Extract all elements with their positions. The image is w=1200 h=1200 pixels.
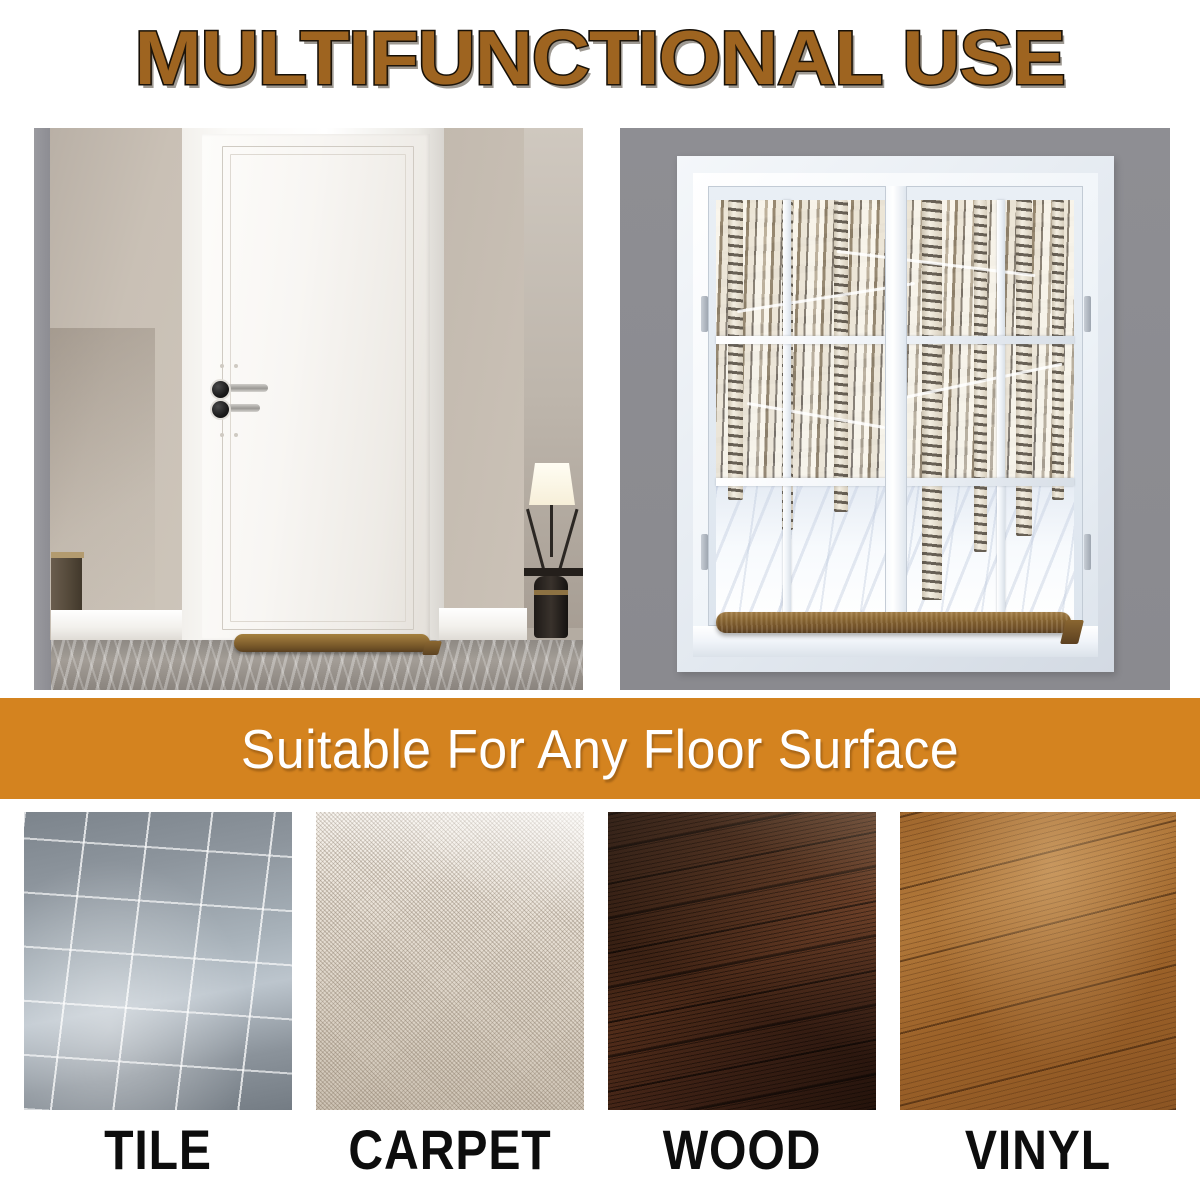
vinyl-texture (900, 812, 1176, 1110)
carpet-floor-image (316, 812, 584, 1110)
birch-trunk (834, 200, 848, 512)
window-hinge (1084, 296, 1091, 332)
floor-label-tile: TILE (43, 1118, 273, 1180)
carpet-texture (316, 812, 584, 1110)
floor-label-carpet: CARPET (335, 1118, 565, 1180)
decor-vase (534, 576, 568, 638)
floor-label-vinyl: VINYL (919, 1118, 1156, 1180)
window-scene-photo (620, 128, 1170, 690)
banner-text: Suitable For Any Floor Surface (241, 717, 959, 781)
console-cabinet-top (51, 552, 84, 558)
window-hinge (701, 534, 708, 570)
photo-left-edge-strip (34, 128, 51, 690)
window-mullion-vertical (783, 200, 791, 624)
window-meeting-rail (885, 186, 907, 626)
door-hardware-screw (220, 433, 224, 437)
baseboard-right (439, 608, 527, 642)
door-hardware-screw (234, 364, 238, 368)
door-hardware-screw (220, 364, 224, 368)
page-title: MULTIFUNCTIONAL USE (135, 21, 1065, 97)
adjacent-room (524, 128, 583, 628)
wood-texture (608, 812, 876, 1110)
floor-lamp-shade (529, 463, 575, 505)
wood-floor-image (608, 812, 876, 1110)
door-hardware-screw (234, 433, 238, 437)
side-table (523, 568, 583, 576)
floor-lamp-stem (550, 505, 553, 557)
decor-vase-ring (534, 590, 568, 595)
draft-stopper-window (716, 612, 1071, 633)
title-bar: MULTIFUNCTIONAL USE (0, 0, 1200, 118)
vinyl-floor-image (900, 812, 1176, 1110)
hallway-right-wall (439, 128, 524, 640)
baseboard-left (51, 610, 182, 642)
tile-texture (24, 812, 292, 1110)
door-handle-rose (212, 381, 229, 398)
birch-trunk (728, 200, 743, 500)
door-scene-photo (34, 128, 583, 690)
door-lever-handle (224, 384, 268, 392)
window-mullion-vertical (997, 200, 1005, 624)
window-hinge (701, 296, 708, 332)
door-lock-rose (212, 401, 229, 418)
floor-label-wood: WOOD (627, 1118, 857, 1180)
window-hinge (1084, 534, 1091, 570)
floor-surface-banner: Suitable For Any Floor Surface (0, 698, 1200, 799)
door-lever-latch (224, 404, 260, 412)
birch-trunk (1052, 200, 1064, 500)
tile-floor-image (24, 812, 292, 1110)
draft-stopper-door (234, 634, 430, 652)
birch-trunk (974, 200, 987, 552)
